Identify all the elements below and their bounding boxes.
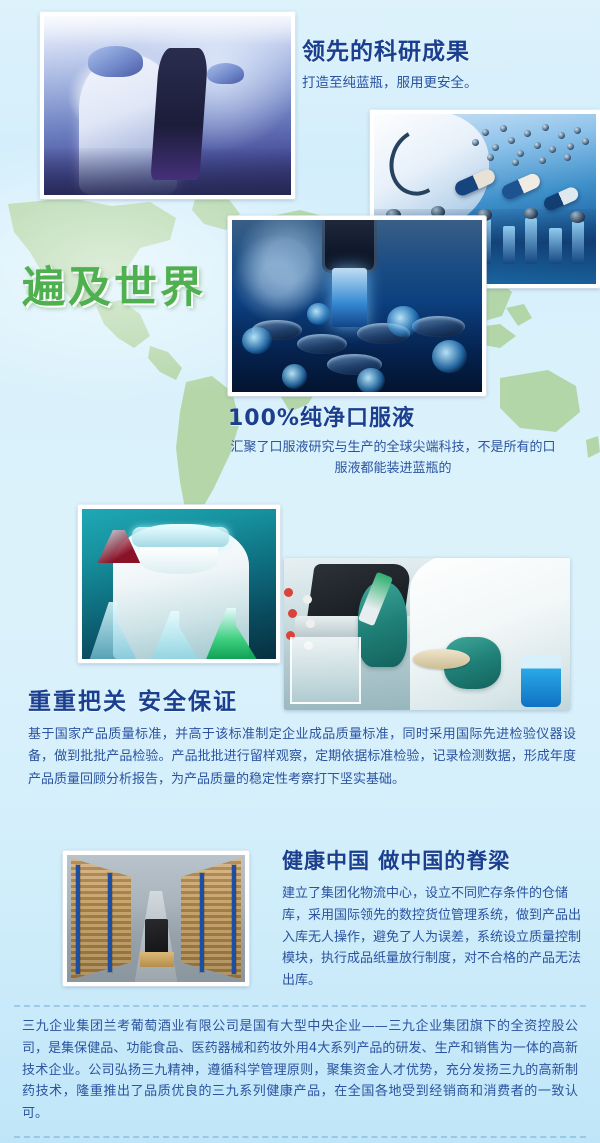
bokeh-highlight [307, 303, 330, 325]
research-body: 打造至纯蓝瓶，服用更安全。 [302, 73, 592, 94]
research-text-block: 领先的科研成果 打造至纯蓝瓶，服用更安全。 [302, 32, 592, 94]
oral-liquid-body: 汇聚了口服液研究与生产的全球尖端科技，不是所有的口服液都能装进蓝瓶的 [228, 438, 558, 480]
scientist-flask-image [82, 509, 276, 659]
vial-icon [572, 221, 584, 264]
vial-icon [525, 218, 537, 264]
illuminated-vial [332, 268, 367, 326]
scientist-flask-photo [78, 505, 280, 663]
bokeh-highlight [357, 368, 385, 392]
quality-body: 基于国家产品质量标准，并高于该标准制定企业成品质量标准，同时采用国际先进检验仪器… [28, 724, 576, 791]
lab-microscope-image [44, 16, 291, 195]
vial-icon [503, 226, 515, 263]
pallet-icon [140, 952, 174, 967]
health-china-title: 健康中国 做中国的脊梁 [282, 845, 582, 875]
filling-nozzle-icon [322, 220, 377, 273]
company-intro-text: 三九企业集团兰考葡萄酒业有限公司是国有大型中央企业——三九企业集团旗下的全资控股… [0, 1007, 600, 1134]
quality-text-block: 重重把关 安全保证 基于国家产品质量标准，并高于该标准制定企业成品质量标准，同时… [28, 682, 576, 791]
vial-icon [549, 228, 561, 264]
rack-beam [76, 865, 80, 974]
safety-goggles-icon [132, 527, 229, 547]
hair-cap-icon [88, 46, 142, 76]
face-mask-icon [140, 547, 218, 574]
vial-cap-icon [570, 211, 584, 223]
global-reach-heading: 遍及世界 [22, 253, 262, 315]
hair-cap-icon [207, 63, 244, 84]
oral-liquid-title: 100%纯净口服液 [228, 400, 558, 432]
bokeh-highlight [432, 340, 467, 373]
quality-title: 重重把关 安全保证 [28, 682, 576, 716]
research-title: 领先的科研成果 [302, 32, 592, 66]
product-detail-page: { "page": { "background_top": "#ddf2fb",… [0, 0, 600, 1143]
health-china-body: 建立了集团化物流中心，设立不同贮存条件的仓储库，采用国际领先的数控货位管理系统，… [282, 883, 582, 992]
petri-dish-icon [413, 649, 470, 669]
ceiling-light [44, 16, 291, 45]
bokeh-highlight [282, 364, 307, 388]
health-china-text-block: 健康中国 做中国的脊梁 建立了集团化物流中心，设立不同贮存条件的仓储库，采用国际… [282, 845, 582, 992]
blue-vials-photo [228, 216, 486, 396]
vial-cap-icon [412, 316, 465, 337]
vial-cap-icon [297, 334, 347, 355]
company-footer: 三九企业集团兰考葡萄酒业有限公司是国有大型中央企业——三九企业集团旗下的全资控股… [0, 1005, 600, 1138]
lab-bench [44, 148, 291, 195]
bokeh-highlight [387, 306, 420, 337]
rack-beam [108, 873, 112, 972]
lab-microscope-photo [40, 12, 295, 199]
oral-liquid-text-block: 100%纯净口服液 汇聚了口服液研究与生产的全球尖端科技，不是所有的口服液都能装… [228, 400, 558, 480]
warehouse-image [67, 855, 245, 982]
footer-bottom-divider [14, 1136, 586, 1138]
rack-beam [200, 873, 204, 972]
bokeh-highlight [242, 327, 272, 355]
warehouse-photo [63, 851, 249, 986]
blue-vials-image [232, 220, 482, 392]
rack-beam [232, 865, 236, 974]
